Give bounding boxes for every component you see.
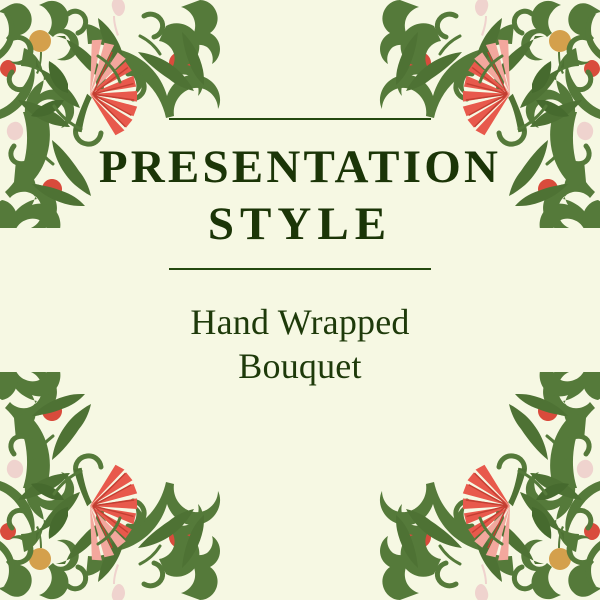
ornament-group-bottom-left bbox=[0, 372, 220, 600]
subtitle-line-1: Hand Wrapped bbox=[190, 302, 409, 342]
flower-sepals bbox=[31, 61, 68, 117]
gold-berry bbox=[29, 30, 51, 74]
page-title: PRESENTATION STYLE bbox=[99, 139, 501, 254]
page-subtitle: Hand Wrapped Bouquet bbox=[190, 270, 409, 389]
ornament-bottom-left bbox=[0, 372, 226, 600]
ornament-bottom-right bbox=[374, 372, 600, 600]
leaves-top bbox=[56, 18, 204, 91]
scrollwork-upper-branch bbox=[0, 0, 220, 118]
divider-top bbox=[169, 118, 431, 120]
title-line-2: STYLE bbox=[208, 198, 392, 250]
flower-petals-highlight bbox=[64, 31, 128, 94]
poster-canvas: PRESENTATION STYLE Hand Wrapped Bouquet bbox=[0, 0, 600, 600]
subtitle-line-2: Bouquet bbox=[238, 346, 361, 386]
title-line-1: PRESENTATION bbox=[99, 141, 501, 193]
ornament-group-bottom-right bbox=[380, 372, 600, 600]
center-text-block: PRESENTATION STYLE Hand Wrapped Bouquet bbox=[0, 118, 600, 388]
